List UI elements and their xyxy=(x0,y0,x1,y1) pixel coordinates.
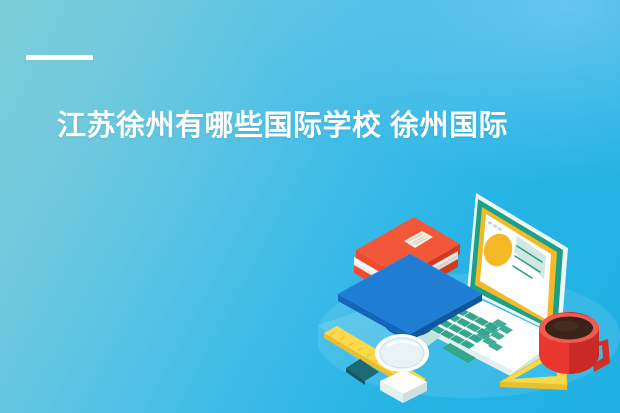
education-illustration xyxy=(318,186,620,413)
decorative-dash xyxy=(26,55,93,60)
article-cover-banner: 江苏徐州有哪些国际学校 徐州国际 xyxy=(0,0,620,413)
page-title: 江苏徐州有哪些国际学校 徐州国际 xyxy=(57,105,597,147)
